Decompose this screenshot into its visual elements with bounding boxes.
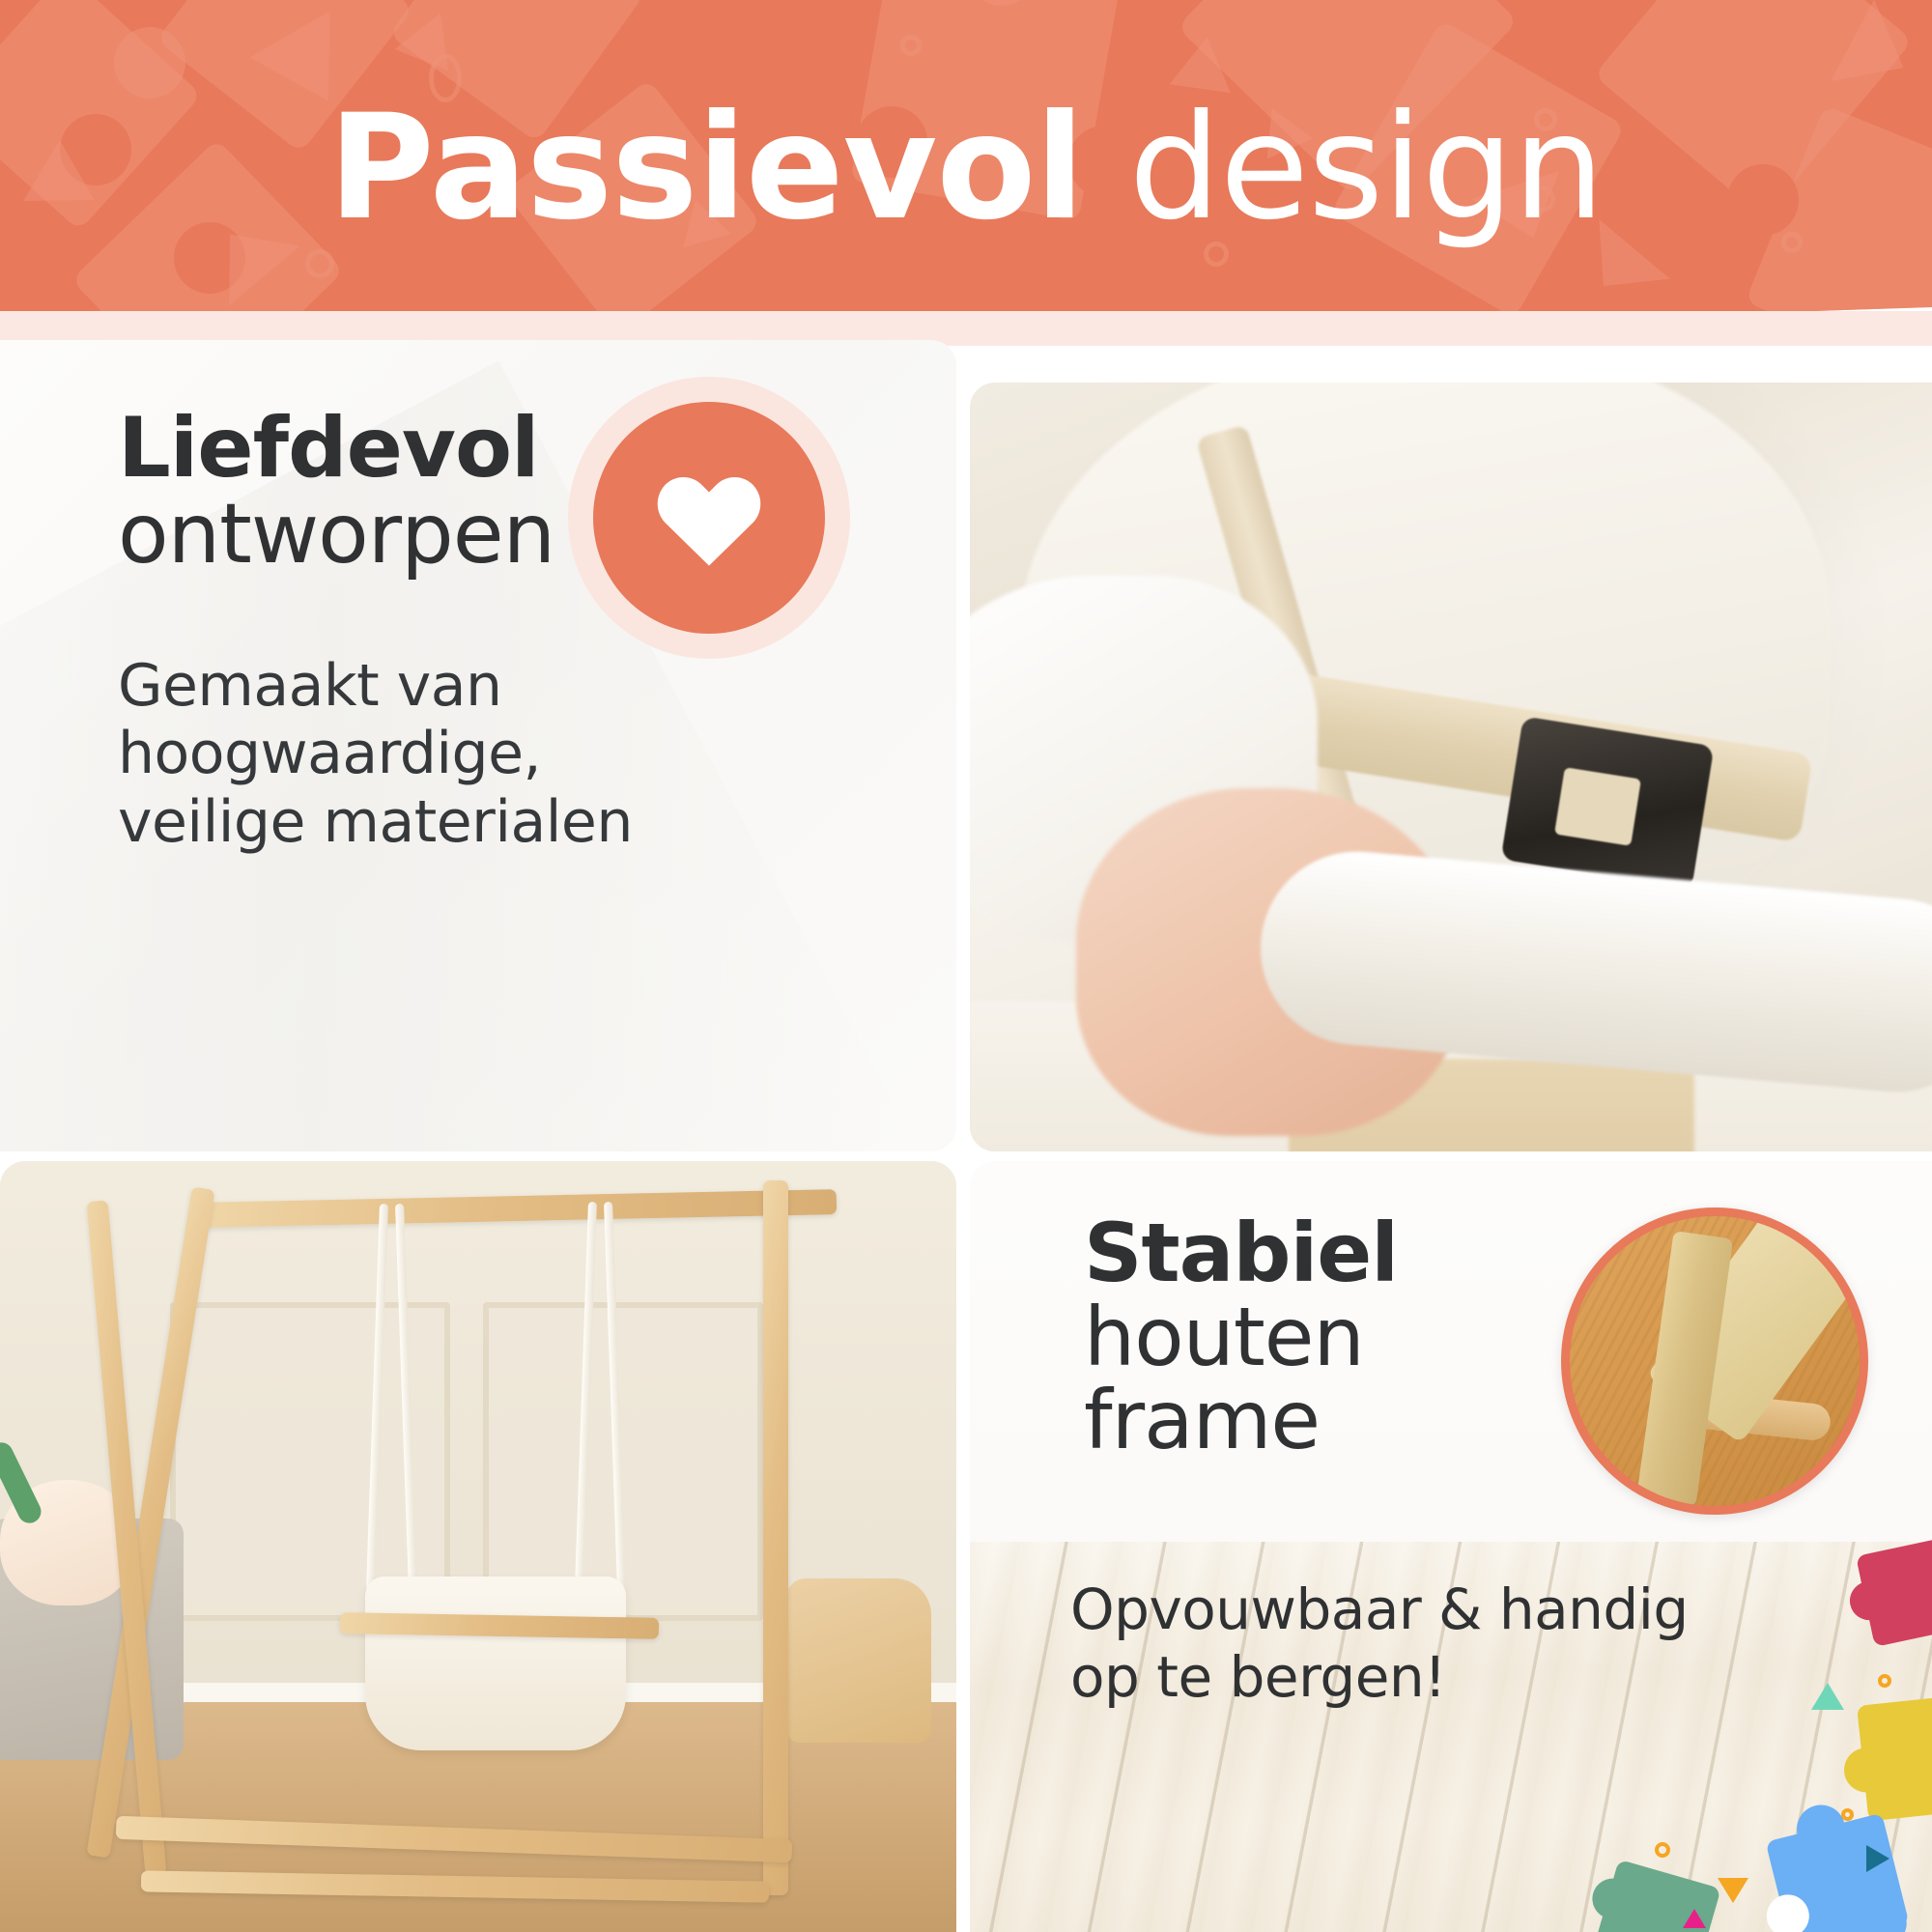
card-heading-liefdevol: Liefdevol ontworpen (118, 406, 956, 577)
card-heading-regular-2b: frame (1084, 1378, 1398, 1463)
photo-baby-holding-bar (970, 383, 1932, 1151)
page-title: Passievol design (0, 93, 1932, 245)
confetti-triangle-pink (1683, 1909, 1706, 1928)
page-title-regular: design (1129, 84, 1605, 252)
puzzle-piece-yellow (1857, 1695, 1932, 1822)
card-heading-bold: Liefdevol (118, 406, 956, 492)
card-body-text-2: Opvouwbaar & handig op te bergen! (1070, 1577, 1689, 1711)
page-title-bold: Passievol (328, 84, 1084, 252)
confetti-triangle-orange (1718, 1878, 1748, 1903)
heart-badge (593, 402, 825, 634)
confetti-triangle-navy (1866, 1845, 1889, 1872)
card-body-2-line-2: op te bergen! (1070, 1644, 1689, 1712)
confetti-ring-1 (1878, 1674, 1891, 1688)
circular-photo-inset-brace (1561, 1207, 1868, 1515)
infographic-canvas: Passievol design Liefdevol ontworpen Gem… (0, 0, 1932, 1932)
feature-card-stable-frame: Stabiel houten frame Opvouwbaar & handig… (970, 1161, 1932, 1932)
confetti-ring-2 (1841, 1808, 1854, 1821)
card-heading-bold-2: Stabiel (1084, 1211, 1398, 1295)
card-body-text: Gemaakt van hoogwaardige, veilige materi… (118, 652, 956, 856)
card-heading-regular: ontworpen (118, 492, 956, 578)
card-body-line-2: hoogwaardige, (118, 720, 956, 787)
card-body-line-1: Gemaakt van (118, 652, 956, 720)
photo-wooden-swing-room (0, 1161, 956, 1932)
heart-icon (652, 467, 766, 569)
confetti-ring-3 (1655, 1842, 1670, 1858)
card-heading-stabiel: Stabiel houten frame (1084, 1211, 1398, 1463)
feature-card-loving-design: Liefdevol ontworpen Gemaakt van hoogwaar… (0, 340, 956, 1151)
card-heading-regular-2a: houten (1084, 1295, 1398, 1379)
header-banner: Passievol design (0, 0, 1932, 328)
confetti-triangle-teal (1811, 1683, 1844, 1710)
card-body-line-3: veilige materialen (118, 788, 956, 856)
card-body-2-line-1: Opvouwbaar & handig (1070, 1577, 1689, 1644)
